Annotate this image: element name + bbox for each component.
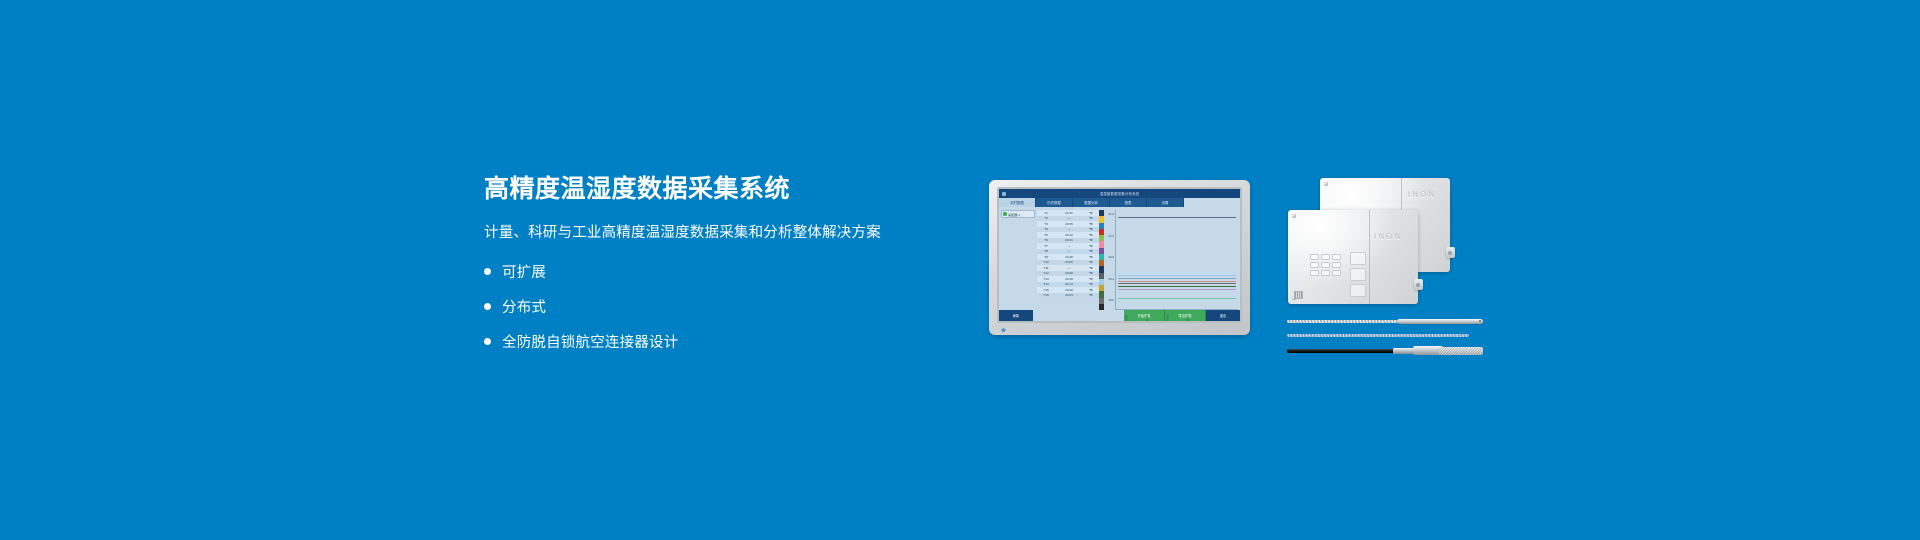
table-row[interactable]: T1620.54℃ bbox=[1037, 293, 1099, 299]
emboss-cell bbox=[1310, 262, 1319, 268]
list-item: 分布式 bbox=[484, 298, 954, 315]
software-screen: 温湿度数据采集分析系统 实时数据 历史数据 数据分析 报表 设置 采集器-1 bbox=[999, 189, 1240, 321]
brand-logo: INON bbox=[1408, 190, 1436, 199]
chart-series-line bbox=[1118, 281, 1235, 282]
probe-braid bbox=[1287, 320, 1402, 323]
emboss-cell bbox=[1310, 254, 1319, 260]
chart-series-line bbox=[1118, 298, 1235, 299]
emboss-cell bbox=[1310, 270, 1319, 276]
chart-x-tick: 09:50 bbox=[1226, 315, 1229, 322]
page-subtitle: 计量、科研与工业高精度温湿度数据采集和分析整体解决方案 bbox=[484, 224, 954, 243]
aviation-connector-icon bbox=[1414, 279, 1423, 290]
chart-x-tick: 09:30 bbox=[1186, 315, 1189, 322]
embossed-keypad-pattern bbox=[1310, 254, 1341, 276]
list-item: 全防脱自锁航空连接器设计 bbox=[484, 333, 954, 350]
feature-label: 可扩展 bbox=[502, 261, 546, 282]
chart-y-tick: 21.6 bbox=[1109, 212, 1114, 216]
status-online-icon bbox=[1003, 212, 1007, 216]
table-row[interactable]: T121.51℃ bbox=[1037, 210, 1099, 216]
monitor-bezel: 温湿度数据采集分析系统 实时数据 历史数据 数据分析 报表 设置 采集器-1 bbox=[997, 187, 1242, 323]
banner-copy: 高精度温湿度数据采集系统 计量、科研与工业高精度温湿度数据采集和分析整体解决方案… bbox=[484, 175, 954, 368]
channel-name: T16 bbox=[1037, 293, 1055, 299]
tab-report[interactable]: 报表 bbox=[1110, 198, 1147, 207]
hardware-group: INON INON bbox=[1285, 178, 1485, 373]
table-row[interactable]: T320.55℃ bbox=[1037, 221, 1099, 227]
tab-label: 报表 bbox=[1125, 200, 1132, 205]
chart-x-axis: 09:0009:1009:2009:3009:4009:50 bbox=[1116, 315, 1238, 322]
embossed-port-pattern bbox=[1350, 252, 1366, 297]
table-row[interactable]: T620.31℃ bbox=[1037, 238, 1099, 244]
chart-y-axis: 21.621.220.820.420.0 bbox=[1106, 210, 1115, 310]
bullet-icon bbox=[484, 338, 491, 345]
chart-series-line bbox=[1118, 286, 1235, 287]
cable-body bbox=[1287, 349, 1399, 353]
tab-label: 历史数据 bbox=[1047, 200, 1061, 205]
tab-history[interactable]: 历史数据 bbox=[1036, 198, 1073, 207]
front-enclosure: INON bbox=[1288, 210, 1418, 304]
app-body: 采集器-1 T121.51℃T2---℃T320.55℃T4---℃T520.1… bbox=[999, 207, 1240, 310]
table-row[interactable]: T1420.13℃ bbox=[1037, 282, 1099, 288]
chart-series-line bbox=[1118, 278, 1235, 279]
tab-label: 实时数据 bbox=[1010, 200, 1024, 205]
emboss-tile bbox=[1350, 252, 1366, 265]
bullet-icon bbox=[484, 303, 491, 310]
chart-series-line bbox=[1118, 283, 1235, 284]
cable-body bbox=[1287, 334, 1469, 337]
bullet-icon bbox=[484, 268, 491, 275]
chart-x-tick: 09:10 bbox=[1145, 315, 1148, 322]
chart-y-tick: 20.8 bbox=[1109, 255, 1114, 259]
blue-sensor-cable bbox=[1287, 333, 1469, 337]
table-row[interactable]: T1020.66℃ bbox=[1037, 260, 1099, 266]
tab-analysis[interactable]: 数据分析 bbox=[1073, 198, 1110, 207]
chart-x-tick: 09:20 bbox=[1165, 315, 1168, 322]
toolbar-spacer bbox=[1033, 310, 1124, 321]
cable-ferrule bbox=[1393, 348, 1415, 355]
connector-knurled-nut bbox=[1439, 347, 1483, 355]
chart-x-tick: 09:00 bbox=[1125, 315, 1128, 322]
probe-sheath bbox=[1397, 319, 1483, 324]
feature-label: 全防脱自锁航空连接器设计 bbox=[502, 331, 678, 352]
page-title: 高精度温湿度数据采集系统 bbox=[484, 175, 954, 204]
table-row[interactable]: T1520.90℃ bbox=[1037, 287, 1099, 293]
tab-bar: 实时数据 历史数据 数据分析 报表 设置 bbox=[999, 198, 1240, 207]
screw-icon bbox=[1324, 182, 1328, 186]
channel-table-wrap: T121.51℃T2---℃T320.55℃T4---℃T520.12℃T620… bbox=[1037, 207, 1099, 310]
braided-temperature-probe bbox=[1287, 318, 1483, 324]
emboss-cell bbox=[1332, 254, 1341, 260]
chart-y-tick: 21.2 bbox=[1109, 234, 1114, 238]
table-row[interactable]: T520.12℃ bbox=[1037, 232, 1099, 238]
emboss-cell bbox=[1321, 254, 1330, 260]
vendor-logo-icon bbox=[1001, 328, 1006, 332]
tab-label: 设置 bbox=[1162, 200, 1169, 205]
emboss-cell bbox=[1321, 262, 1330, 268]
table-row[interactable]: T8---℃ bbox=[1037, 249, 1099, 255]
table-row[interactable]: T11---℃ bbox=[1037, 265, 1099, 271]
screw-icon bbox=[1292, 214, 1296, 218]
rating-label bbox=[1294, 291, 1303, 299]
emboss-tile bbox=[1350, 284, 1366, 297]
enclosure-seam bbox=[1369, 210, 1370, 304]
feature-list: 可扩展 分布式 全防脱自锁航空连接器设计 bbox=[484, 263, 954, 350]
device-tree: 采集器-1 bbox=[999, 207, 1037, 310]
emboss-tile bbox=[1350, 268, 1366, 281]
tab-settings[interactable]: 设置 bbox=[1147, 198, 1184, 207]
table-row[interactable]: T7---℃ bbox=[1037, 243, 1099, 249]
channel-value: 20.54 bbox=[1055, 293, 1083, 299]
black-cable-aviation-connector bbox=[1287, 346, 1483, 355]
emboss-cell bbox=[1321, 270, 1330, 276]
channel-table: T121.51℃T2---℃T320.55℃T4---℃T520.12℃T620… bbox=[1037, 210, 1099, 298]
chart-y-tick: 20.0 bbox=[1109, 298, 1114, 302]
tab-bar-filler bbox=[1184, 198, 1240, 207]
brand-logo: INON bbox=[1374, 232, 1402, 241]
table-row[interactable]: T1220.90℃ bbox=[1037, 271, 1099, 277]
channel-unit: ℃ bbox=[1083, 293, 1099, 299]
aviation-connector-icon bbox=[1446, 247, 1455, 258]
device-name: 采集器-1 bbox=[1008, 212, 1020, 217]
emboss-cell bbox=[1332, 262, 1341, 268]
panel-pc-monitor: 温湿度数据采集分析系统 实时数据 历史数据 数据分析 报表 设置 采集器-1 bbox=[989, 180, 1250, 335]
device-tree-node[interactable]: 采集器-1 bbox=[1001, 210, 1035, 218]
emboss-cell bbox=[1332, 270, 1341, 276]
trend-chart: 21.621.220.820.420.0 09:0009:1009:2009:3… bbox=[1104, 207, 1240, 310]
refresh-button[interactable]: 刷新 bbox=[999, 310, 1033, 321]
chart-series-line bbox=[1118, 289, 1235, 290]
table-row[interactable]: T920.38℃ bbox=[1037, 254, 1099, 260]
app-title: 温湿度数据采集分析系统 bbox=[999, 191, 1240, 196]
monitor-foot bbox=[989, 324, 1250, 334]
table-row[interactable]: T4---℃ bbox=[1037, 227, 1099, 233]
product-banner: 高精度温湿度数据采集系统 计量、科研与工业高精度温湿度数据采集和分析整体解决方案… bbox=[0, 0, 1920, 540]
chart-series-line bbox=[1118, 217, 1235, 218]
table-row[interactable]: T2---℃ bbox=[1037, 216, 1099, 222]
app-titlebar: 温湿度数据采集分析系统 bbox=[999, 189, 1240, 198]
tab-realtime[interactable]: 实时数据 bbox=[999, 198, 1036, 207]
chart-x-tick: 09:40 bbox=[1206, 315, 1209, 322]
tab-label: 数据分析 bbox=[1084, 200, 1098, 205]
chart-y-tick: 20.4 bbox=[1109, 277, 1114, 281]
table-row[interactable]: T1320.28℃ bbox=[1037, 276, 1099, 282]
chart-plot-area: 09:0009:1009:2009:3009:4009:50 bbox=[1115, 210, 1238, 310]
feature-label: 分布式 bbox=[502, 296, 546, 317]
chart-series-line bbox=[1118, 275, 1235, 276]
list-item: 可扩展 bbox=[484, 263, 954, 280]
